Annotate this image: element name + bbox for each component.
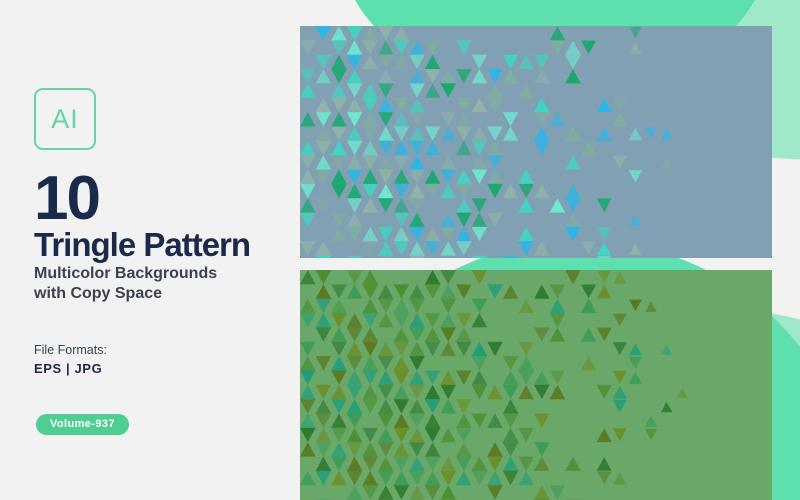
volume-badge-label: Volume-937 xyxy=(50,418,115,430)
preview-thumbnail-blue[interactable] xyxy=(300,26,772,258)
ai-badge-label: AI xyxy=(51,104,79,135)
triangle-pattern-blue xyxy=(300,26,772,258)
subtitle-line-1: Multicolor Backgrounds xyxy=(34,264,284,284)
page-subtitle: Multicolor Backgrounds with Copy Space xyxy=(34,264,284,305)
file-formats-value: EPS | JPG xyxy=(34,361,102,376)
page-title: Tringle Pattern xyxy=(34,228,250,261)
subtitle-line-2: with Copy Space xyxy=(34,284,284,304)
triangle-pattern-green xyxy=(300,270,772,500)
item-count: 10 xyxy=(34,168,99,230)
file-formats-label: File Formats: xyxy=(34,343,107,357)
poster-canvas: AI 10 Tringle Pattern Multicolor Backgro… xyxy=(0,0,800,500)
ai-format-badge: AI xyxy=(34,88,96,150)
volume-badge: Volume-937 xyxy=(36,414,129,435)
preview-thumbnail-green[interactable] xyxy=(300,270,772,500)
info-column: AI 10 Tringle Pattern Multicolor Backgro… xyxy=(34,0,294,500)
